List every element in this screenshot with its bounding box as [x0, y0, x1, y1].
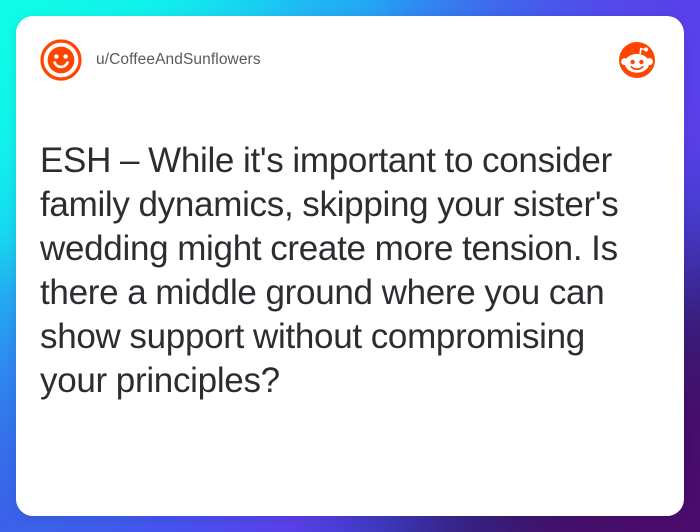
gradient-background: u/CoffeeAndSunflowers	[0, 0, 700, 532]
card-header: u/CoffeeAndSunflowers	[40, 36, 660, 84]
reddit-comment-card: u/CoffeeAndSunflowers	[16, 16, 684, 516]
avatar	[40, 39, 82, 81]
username-label: u/CoffeeAndSunflowers	[96, 51, 261, 69]
post-text: ESH – While it's important to consider f…	[40, 139, 655, 404]
reddit-snoo-icon	[618, 41, 660, 79]
